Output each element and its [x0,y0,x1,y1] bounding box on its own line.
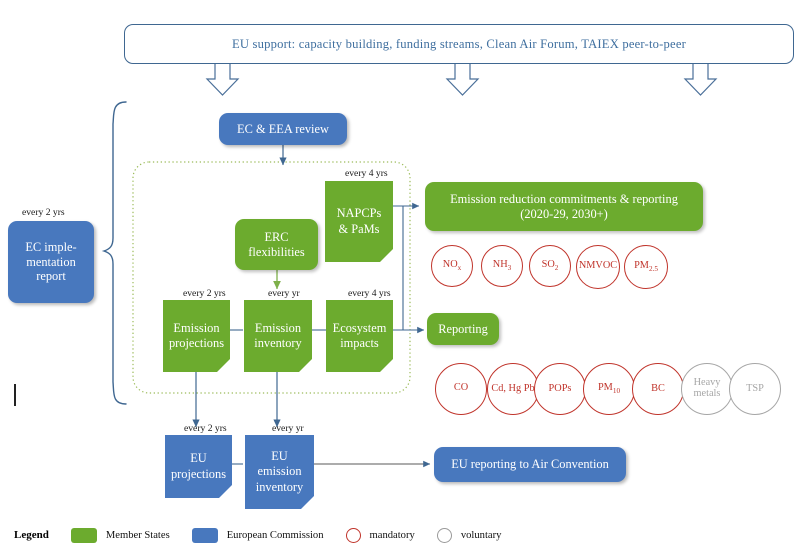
eu-emission-inventory-line3: inventory [256,480,304,496]
box-eu-projections[interactable]: EU projections [165,435,232,498]
period-eu-projections: every 2 yrs [184,423,227,434]
pollutant-nh3-label: NH3 [493,260,511,273]
box-reporting[interactable]: Reporting [427,313,499,345]
emission-projections-line1: Emission [173,321,219,337]
legend-swatch-european-commission [192,528,218,543]
box-ec-eea-review[interactable]: EC & EEA review [219,113,347,145]
legend-circle-voluntary [437,528,452,543]
box-emission-projections[interactable]: Emission projections [163,300,230,372]
period-napcps-pams: every 4 yrs [345,168,388,179]
legend-swatch-member-states [71,528,97,543]
eu-emission-inventory-line1: EU [271,449,288,465]
reporting-label: Reporting [438,322,488,337]
pollutant-pops-label: POPs [549,384,572,395]
diagram-canvas: EU support: capacity building, funding s… [0,0,799,552]
box-erc-flexibilities[interactable]: ERC flexibilities [235,219,318,270]
pollutant-circle-nox: NOx [431,245,473,287]
legend-label-member-states: Member States [106,530,170,541]
eu-emission-inventory-line2: emission [257,464,301,480]
emission-inventory-line1: Emission [255,321,301,337]
box-eu-emission-inventory[interactable]: EU emission inventory [245,435,314,509]
ecosystem-impacts-line1: Ecosystem [333,321,387,337]
pollutant-nox-label: NOx [443,260,461,273]
ec-eea-review-label: EC & EEA review [237,122,329,137]
box-ec-implementation-report[interactable]: EC imple- mentation report [8,221,94,303]
pollutant-co-label: CO [454,383,468,396]
pollutant-nmvoc-label: NMVOC [579,261,617,274]
period-ec-implementation-report: every 2 yrs [22,207,65,218]
eu-support-banner: EU support: capacity building, funding s… [124,24,794,64]
legend-title: Legend [14,529,49,541]
pollutant-tsp-label: TSP [746,384,764,395]
margin-tick [14,384,16,406]
legend-label-voluntary: voluntary [461,530,502,541]
period-emission-inventory: every yr [268,288,300,299]
pollutant-circle-so2: SO2 [529,245,571,287]
pollutant-pm10-label: PM10 [598,383,620,396]
pollutant-heavy-metals-label: Heavy metals [690,378,724,400]
emission-projections-line2: projections [169,336,224,352]
ec-implementation-report-line3: report [36,269,66,284]
support-arrow-left [207,64,238,95]
pollutant-so2-label: SO2 [542,260,559,273]
box-ecosystem-impacts[interactable]: Ecosystem impacts [326,300,393,372]
pollutant-circle-pops: POPs [534,363,586,415]
legend-label-mandatory: mandatory [370,530,415,541]
pollutant-circle-nh3: NH3 [481,245,523,287]
legend-circle-mandatory [346,528,361,543]
erc-flexibilities-line2: flexibilities [248,245,304,260]
emission-reduction-commitments-line1: Emission reduction commitments & reporti… [450,192,678,207]
legend-label-european-commission: European Commission [227,530,324,541]
pollutant-pm25-label: PM2.5 [634,261,658,274]
box-eu-reporting-air-convention[interactable]: EU reporting to Air Convention [434,447,626,482]
pollutant-circle-pm10: PM10 [583,363,635,415]
support-arrow-center [447,64,478,95]
erc-flexibilities-line1: ERC [264,230,288,245]
pollutant-circle-cd-hg-pb: Cd, Hg Pb [487,363,539,415]
scope-brace [104,102,126,404]
box-emission-inventory[interactable]: Emission inventory [244,300,312,372]
box-emission-reduction-commitments[interactable]: Emission reduction commitments & reporti… [425,182,703,231]
napcps-pams-line1: NAPCPs [337,206,382,222]
pollutant-circle-pm25: PM2.5 [624,245,668,289]
eu-projections-line2: projections [171,467,226,483]
napcps-pams-line2: & PaMs [339,222,380,238]
eu-support-banner-text: EU support: capacity building, funding s… [232,37,686,52]
connector-layer [0,0,799,552]
pollutant-bc-label: BC [651,384,665,395]
pollutant-circle-bc: BC [632,363,684,415]
support-arrow-right [685,64,716,95]
ec-implementation-report-line1: EC imple- [25,240,76,255]
period-ecosystem-impacts: every 4 yrs [348,288,391,299]
ecosystem-impacts-line2: impacts [340,336,379,352]
emission-reduction-commitments-line2: (2020-29, 2030+) [520,207,608,222]
pollutant-circle-tsp: TSP [729,363,781,415]
pollutant-circle-nmvoc: NMVOC [576,245,620,289]
eu-reporting-air-convention-label: EU reporting to Air Convention [451,457,609,472]
eu-projections-line1: EU [190,451,207,467]
box-napcps-pams[interactable]: NAPCPs & PaMs [325,181,393,262]
ec-implementation-report-line2: mentation [26,255,76,270]
emission-inventory-line2: inventory [254,336,302,352]
pollutant-circle-co: CO [435,363,487,415]
pollutant-cd-hg-pb-label: Cd, Hg Pb [491,384,534,395]
period-eu-emission-inventory: every yr [272,423,304,434]
legend: Legend Member States European Commission… [14,524,523,546]
pollutant-circle-heavy-metals: Heavy metals [681,363,733,415]
period-emission-projections: every 2 yrs [183,288,226,299]
